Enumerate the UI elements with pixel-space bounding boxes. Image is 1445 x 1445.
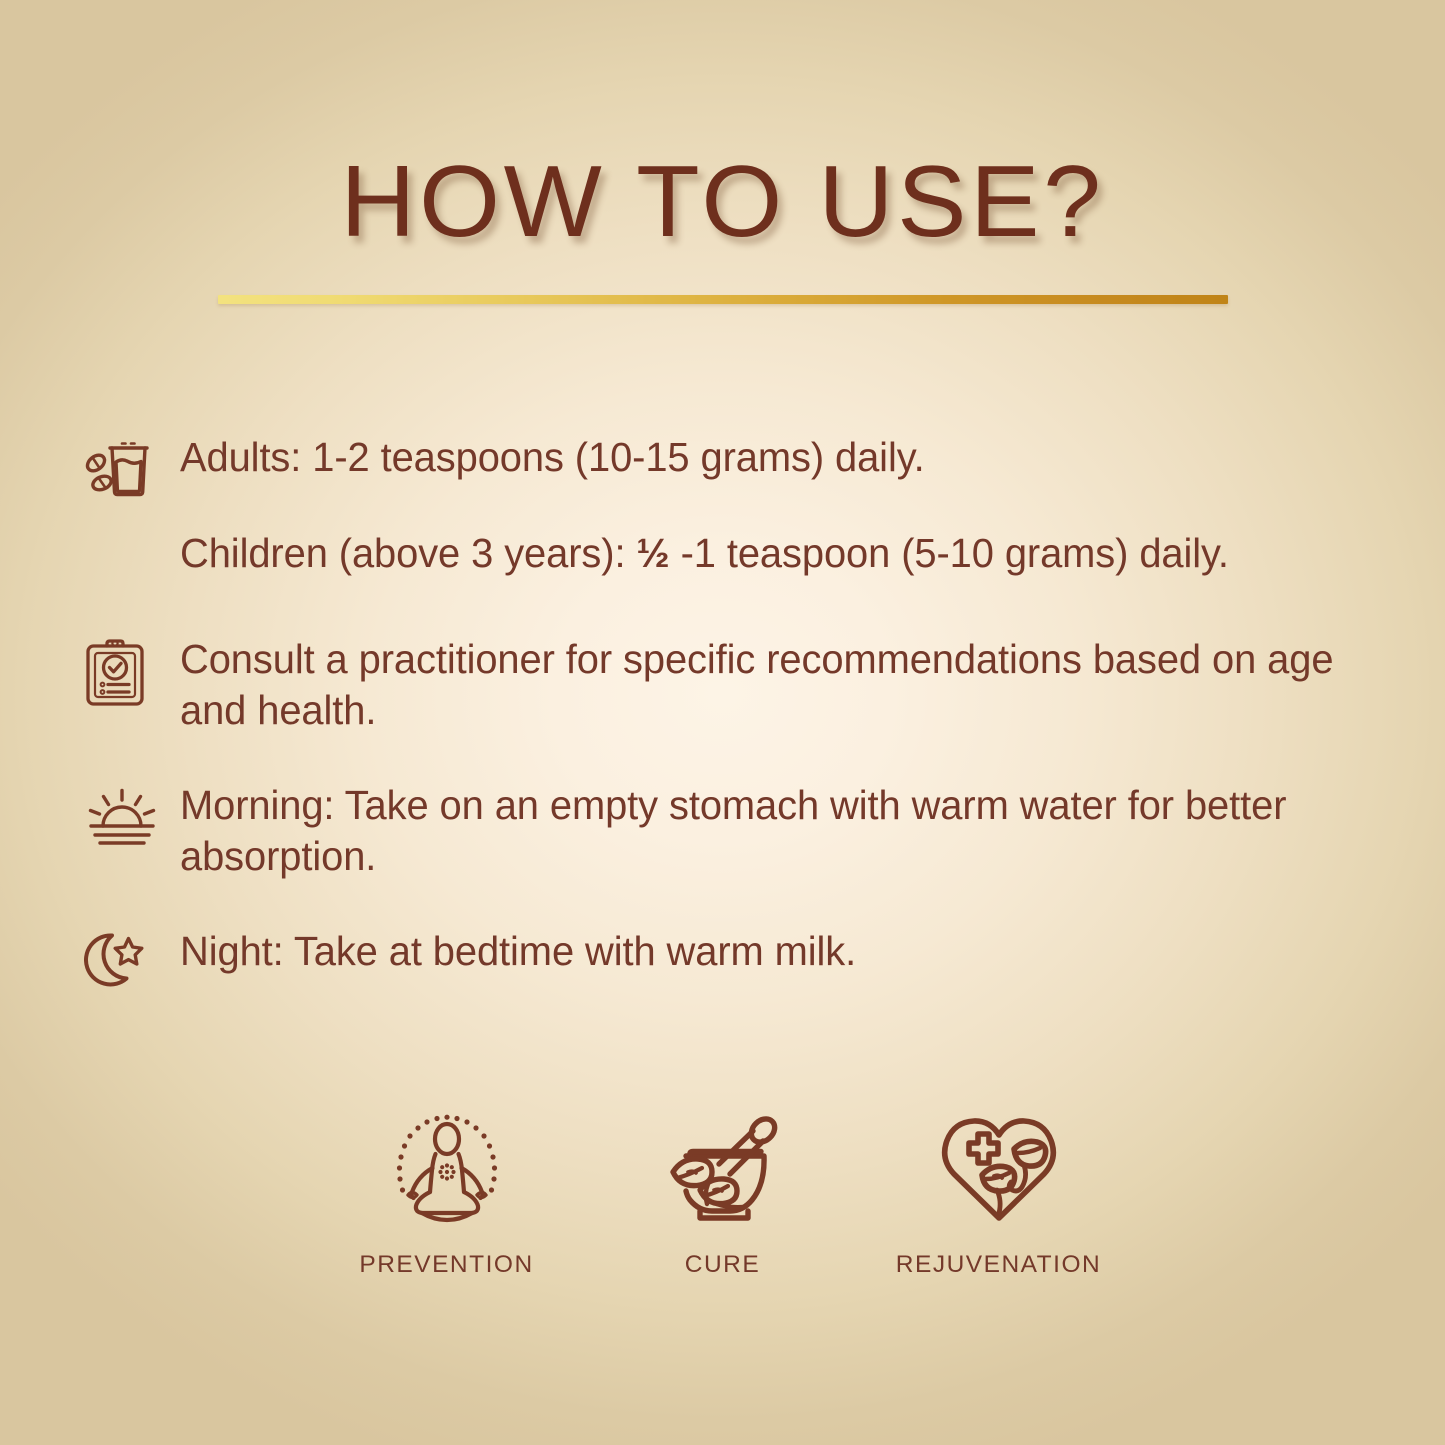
page-title: HOW TO USE? bbox=[0, 152, 1445, 253]
title-underline-rule bbox=[218, 295, 1228, 304]
children-text-lead: Children (above 3 years): bbox=[180, 530, 636, 576]
instruction-text-night: Night: Take at bedtime with warm milk. bbox=[180, 926, 1367, 977]
benefit-label-rejuvenation: REJUVENATION bbox=[896, 1251, 1101, 1279]
glass-of-water-with-pills-icon bbox=[84, 432, 180, 500]
mortar-and-pestle-icon bbox=[660, 1108, 786, 1234]
benefits-strip: PREVENTION bbox=[0, 1108, 1445, 1279]
heart-with-cross-and-leaves-icon bbox=[936, 1108, 1062, 1234]
clipboard-checkmark-icon bbox=[84, 634, 180, 702]
instruction-row-consult: Consult a practitioner for specific reco… bbox=[0, 634, 1445, 736]
instruction-row-adults: Adults: 1-2 teaspoons (10-15 grams) dail… bbox=[0, 432, 1445, 500]
header-block: HOW TO USE? bbox=[0, 0, 1445, 304]
instruction-row-morning: Morning: Take on an empty stomach with w… bbox=[0, 780, 1445, 882]
children-text-tail: -1 teaspoon (5-10 grams) daily. bbox=[670, 530, 1229, 576]
instruction-text-morning: Morning: Take on an empty stomach with w… bbox=[180, 780, 1367, 882]
benefit-prevention: PREVENTION bbox=[352, 1108, 542, 1279]
how-to-use-poster: HOW TO USE? bbox=[0, 0, 1445, 1445]
instruction-row-children: Children (above 3 years): ½ -1 teaspoon … bbox=[0, 528, 1445, 596]
benefit-rejuvenation: REJUVENATION bbox=[904, 1108, 1094, 1279]
instruction-text-adults: Adults: 1-2 teaspoons (10-15 grams) dail… bbox=[180, 432, 1367, 483]
benefit-label-prevention: PREVENTION bbox=[359, 1251, 533, 1279]
instruction-row-night: Night: Take at bedtime with warm milk. bbox=[0, 926, 1445, 994]
sunrise-icon bbox=[84, 780, 180, 848]
instruction-icon-placeholder bbox=[84, 528, 180, 596]
meditating-lotus-figure-icon bbox=[382, 1108, 512, 1234]
benefit-label-cure: CURE bbox=[685, 1251, 760, 1279]
instruction-text-children: Children (above 3 years): ½ -1 teaspoon … bbox=[180, 528, 1367, 579]
benefit-cure: CURE bbox=[628, 1108, 818, 1279]
instruction-text-consult: Consult a practitioner for specific reco… bbox=[180, 634, 1367, 736]
crescent-moon-star-icon bbox=[84, 926, 180, 994]
children-fraction: ½ bbox=[636, 530, 669, 576]
instructions-list: Adults: 1-2 teaspoons (10-15 grams) dail… bbox=[0, 432, 1445, 1024]
